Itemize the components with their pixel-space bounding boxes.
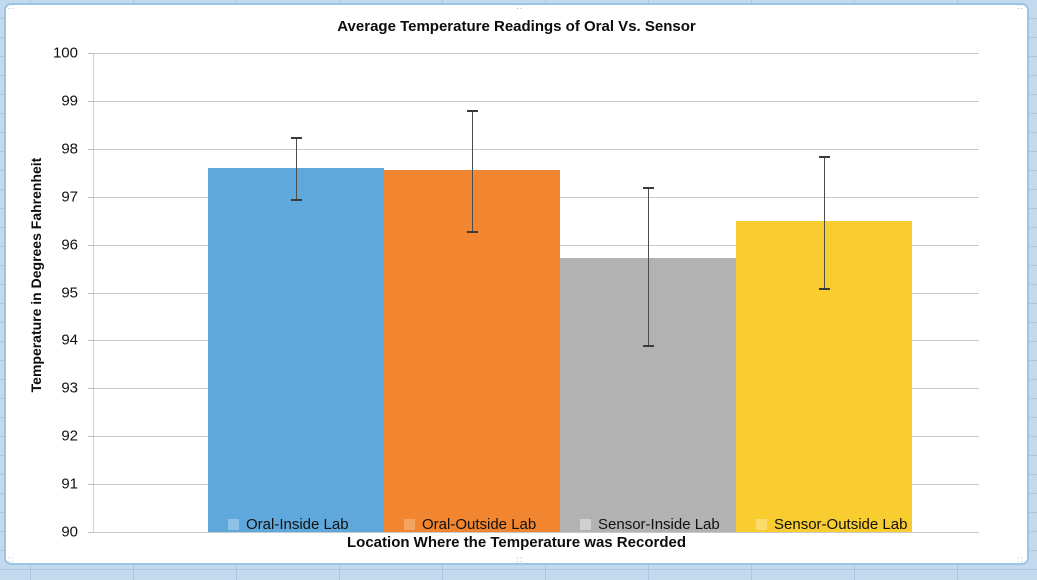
chart-object-frame[interactable]: Average Temperature Readings of Oral Vs.… [4, 3, 1029, 565]
error-bar-line [824, 156, 825, 288]
y-axis-tick [88, 532, 94, 533]
y-axis-tick-label: 97 [61, 188, 78, 205]
y-axis-tick-label: 99 [61, 92, 78, 109]
resize-handle-top-center[interactable]: :: [517, 4, 523, 10]
y-axis-tick [88, 484, 94, 485]
y-axis-tick [88, 340, 94, 341]
gridline [94, 101, 979, 102]
x-axis-title: Location Where the Temperature was Recor… [6, 534, 1027, 551]
y-axis-tick-label: 94 [61, 332, 78, 349]
error-bar-cap-upper [291, 137, 302, 139]
y-axis-tick [88, 149, 94, 150]
y-axis-tick [88, 388, 94, 389]
y-axis-tick-label: 92 [61, 428, 78, 445]
error-bar-cap-upper [819, 156, 830, 158]
sheet-gridline [0, 569, 1037, 570]
plot-area [94, 53, 979, 532]
y-axis-tick-labels: 10099989796959493929190 [6, 5, 88, 565]
resize-handle-bottom-center[interactable]: :: [517, 557, 523, 563]
y-axis-tick [88, 293, 94, 294]
y-axis-tick-label: 100 [53, 45, 78, 62]
chart-title: Average Temperature Readings of Oral Vs.… [6, 18, 1027, 35]
y-axis-tick-label: 95 [61, 284, 78, 301]
y-axis-tick [88, 197, 94, 198]
error-bar-cap-upper [467, 110, 478, 112]
error-bar-cap-lower [467, 231, 478, 233]
error-bar-line [296, 137, 297, 199]
y-axis-tick-label: 98 [61, 140, 78, 157]
error-bar-line [648, 187, 649, 345]
error-bar-cap-lower [819, 288, 830, 290]
y-axis-tick [88, 101, 94, 102]
resize-handle-top-right[interactable]: :: [1018, 4, 1024, 10]
bar-oral-inside-lab[interactable] [208, 168, 384, 532]
y-axis-tick [88, 245, 94, 246]
y-axis-tick [88, 53, 94, 54]
y-axis-tick-label: 96 [61, 236, 78, 253]
resize-handle-bottom-right[interactable]: :: [1018, 557, 1024, 563]
error-bar-cap-lower [291, 199, 302, 201]
y-axis-tick-label: 93 [61, 380, 78, 397]
resize-handle-bottom-left[interactable]: :: [8, 557, 14, 563]
y-axis-tick [88, 436, 94, 437]
y-axis-tick-label: 91 [61, 476, 78, 493]
error-bar-cap-upper [643, 187, 654, 189]
error-bar-line [472, 110, 473, 231]
gridline [94, 149, 979, 150]
resize-handle-top-left[interactable]: :: [8, 4, 14, 10]
gridline [94, 53, 979, 54]
gridline [94, 532, 979, 533]
error-bar-cap-lower [643, 345, 654, 347]
